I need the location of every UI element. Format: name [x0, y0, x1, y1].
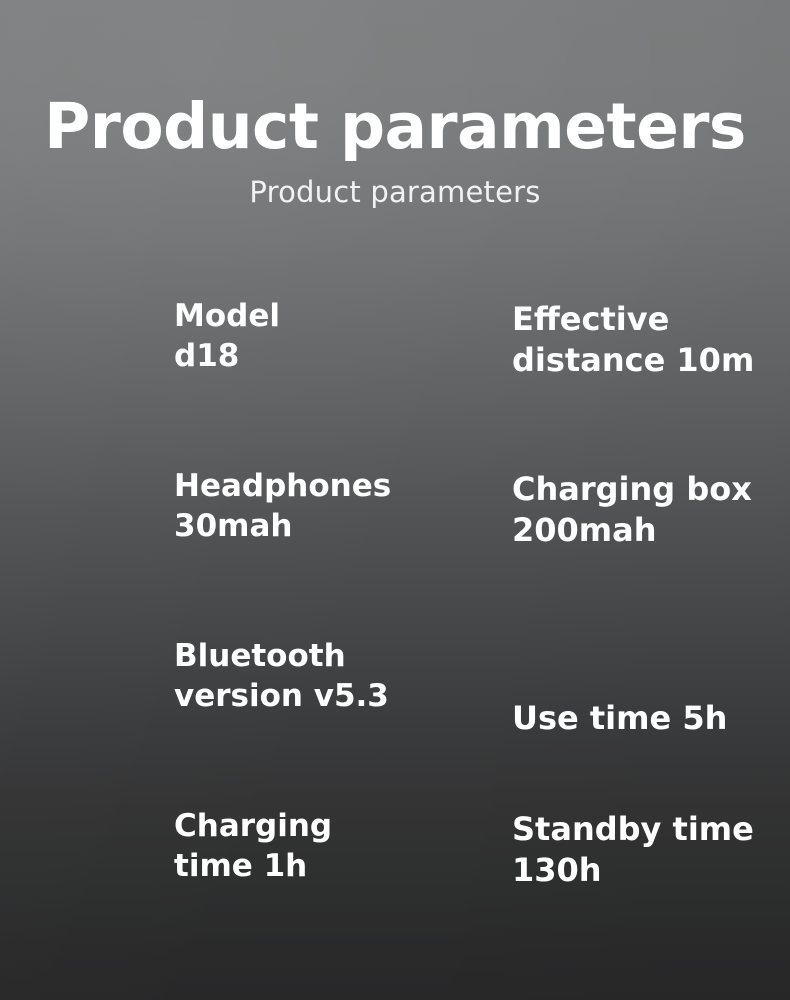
content-layer: Product parameters Product parameters Mo… [0, 0, 790, 1000]
spec-grid: Model d18 Effective distance 10m Headpho… [0, 296, 790, 976]
spec-label: Headphones [174, 466, 504, 506]
spec-value: d18 [174, 336, 504, 376]
spec-label: Charging box [512, 469, 790, 510]
spec-label: Bluetooth [174, 636, 504, 676]
spec-value: time 1h [174, 846, 504, 886]
spec-value: 30mah [174, 506, 504, 546]
spec-value: 130h [512, 850, 790, 891]
spec-value: 200mah [512, 510, 790, 551]
page-title: Product parameters [0, 95, 790, 158]
spec-row: Bluetooth version v5.3 Use time 5h [0, 636, 790, 806]
spec-label: Standby time [512, 809, 790, 850]
spec-row: Headphones 30mah Charging box 200mah [0, 466, 790, 636]
spec-label: Model [174, 296, 504, 336]
product-parameters-card: Product parameters Product parameters Mo… [0, 0, 790, 1000]
spec-cell-charging-time: Charging time 1h [174, 806, 504, 976]
spec-row: Model d18 Effective distance 10m [0, 296, 790, 466]
spec-cell-headphones-battery: Headphones 30mah [174, 466, 504, 636]
spec-label: Effective [512, 299, 790, 340]
page-subtitle: Product parameters [0, 178, 790, 207]
spec-cell-charging-box-battery: Charging box 200mah [512, 466, 790, 639]
spec-row: Charging time 1h Standby time 130h [0, 806, 790, 976]
spec-cell-bluetooth-version: Bluetooth version v5.3 [174, 636, 504, 806]
spec-cell-model: Model d18 [174, 296, 504, 466]
spec-label: Charging [174, 806, 504, 846]
spec-cell-effective-distance: Effective distance 10m [512, 296, 790, 469]
spec-value: version v5.3 [174, 676, 504, 716]
spec-cell-standby-time: Standby time 130h [512, 806, 790, 979]
spec-label: Use time 5h [512, 698, 790, 739]
spec-value: distance 10m [512, 340, 790, 381]
